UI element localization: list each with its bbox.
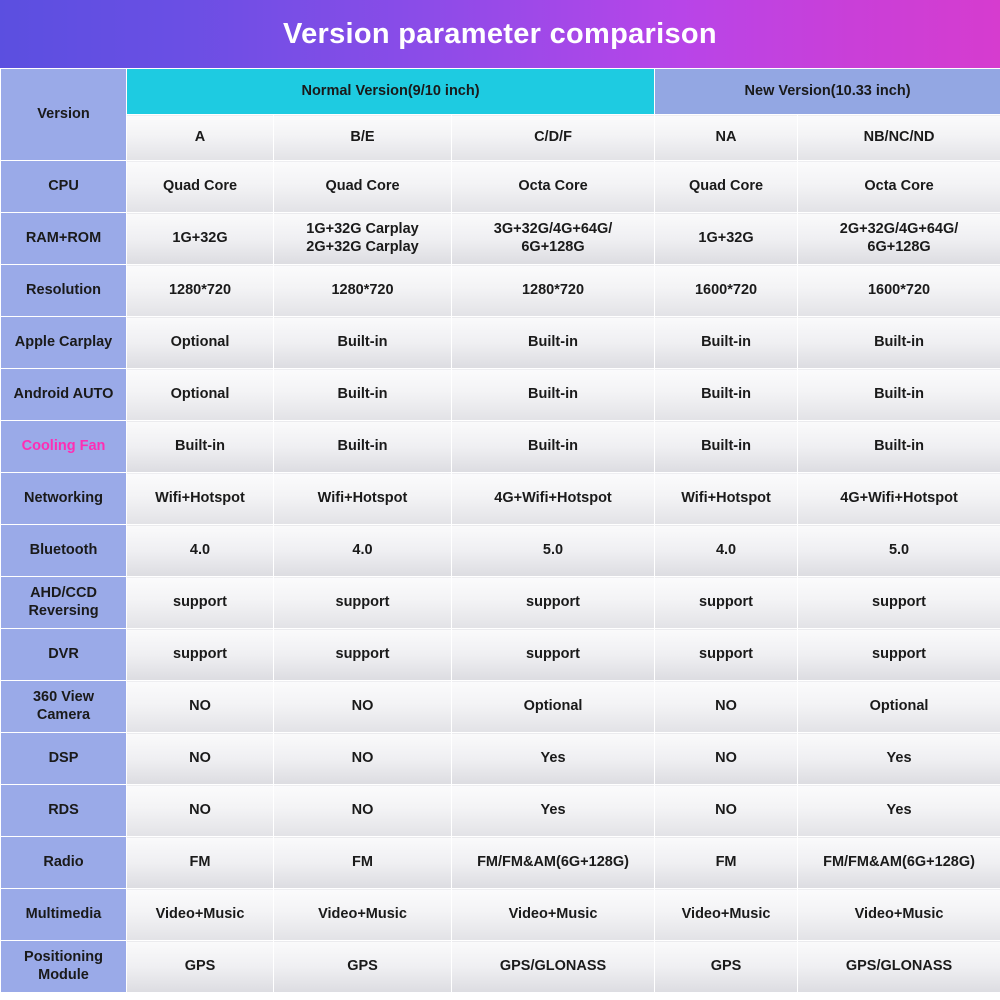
comparison-page: Version parameter comparison VersionNorm… bbox=[0, 0, 1000, 1000]
cell-value: support bbox=[127, 577, 274, 629]
cell-value: Built-in bbox=[452, 421, 655, 473]
cell-value: Built-in bbox=[452, 369, 655, 421]
cell-value: Optional bbox=[798, 681, 1000, 733]
cell-value: 4G+Wifi+Hotspot bbox=[798, 473, 1000, 525]
cell-value: Quad Core bbox=[274, 161, 452, 213]
cell-value: support bbox=[127, 629, 274, 681]
table-row: MultimediaVideo+MusicVideo+MusicVideo+Mu… bbox=[1, 889, 1000, 941]
cell-value: Octa Core bbox=[798, 161, 1000, 213]
cell-value: Yes bbox=[798, 733, 1000, 785]
cell-value: NO bbox=[655, 733, 798, 785]
cell-value: GPS bbox=[274, 941, 452, 993]
header-group-normal-version: Normal Version(9/10 inch) bbox=[127, 69, 655, 115]
title-banner: Version parameter comparison bbox=[0, 0, 1000, 68]
cell-value: 5.0 bbox=[452, 525, 655, 577]
cell-value: FM bbox=[127, 837, 274, 889]
row-label: DVR bbox=[1, 629, 127, 681]
cell-value: NO bbox=[127, 681, 274, 733]
cell-value: support bbox=[655, 577, 798, 629]
cell-value: Wifi+Hotspot bbox=[127, 473, 274, 525]
cell-value: 1280*720 bbox=[274, 265, 452, 317]
cell-value: 1280*720 bbox=[452, 265, 655, 317]
row-label: Resolution bbox=[1, 265, 127, 317]
cell-value: GPS bbox=[127, 941, 274, 993]
cell-value: 3G+32G/4G+64G/6G+128G bbox=[452, 213, 655, 265]
cell-value: GPS bbox=[655, 941, 798, 993]
row-label: Android AUTO bbox=[1, 369, 127, 421]
row-label: DSP bbox=[1, 733, 127, 785]
cell-value: NO bbox=[655, 681, 798, 733]
header-model-4: NA bbox=[655, 115, 798, 161]
cell-value: GPS/GLONASS bbox=[798, 941, 1000, 993]
table-row: Android AUTOOptionalBuilt-inBuilt-inBuil… bbox=[1, 369, 1000, 421]
cell-value: FM/FM&AM(6G+128G) bbox=[798, 837, 1000, 889]
row-label: Bluetooth bbox=[1, 525, 127, 577]
cell-value: 1G+32G bbox=[655, 213, 798, 265]
row-label: RAM+ROM bbox=[1, 213, 127, 265]
cell-value: support bbox=[274, 629, 452, 681]
cell-value: Wifi+Hotspot bbox=[274, 473, 452, 525]
cell-value: FM bbox=[274, 837, 452, 889]
cell-value: support bbox=[452, 629, 655, 681]
cell-value: 1G+32G bbox=[127, 213, 274, 265]
cell-value: NO bbox=[127, 733, 274, 785]
row-label: Apple Carplay bbox=[1, 317, 127, 369]
cell-value: support bbox=[798, 629, 1000, 681]
table-row: Cooling FanBuilt-inBuilt-inBuilt-inBuilt… bbox=[1, 421, 1000, 473]
cell-value: Video+Music bbox=[274, 889, 452, 941]
cell-value: Built-in bbox=[798, 421, 1000, 473]
cell-value: Wifi+Hotspot bbox=[655, 473, 798, 525]
cell-value: NO bbox=[655, 785, 798, 837]
header-group-new-version: New Version(10.33 inch) bbox=[655, 69, 1000, 115]
cell-value: Built-in bbox=[452, 317, 655, 369]
cell-value: 1280*720 bbox=[127, 265, 274, 317]
row-label: Networking bbox=[1, 473, 127, 525]
table-row: 360 ViewCameraNONOOptionalNOOptional bbox=[1, 681, 1000, 733]
cell-value: Built-in bbox=[127, 421, 274, 473]
cell-value: 4.0 bbox=[274, 525, 452, 577]
cell-value: Quad Core bbox=[655, 161, 798, 213]
cell-value: support bbox=[274, 577, 452, 629]
cell-value: support bbox=[798, 577, 1000, 629]
cell-value: Optional bbox=[127, 317, 274, 369]
table-row: PositioningModuleGPSGPSGPS/GLONASSGPSGPS… bbox=[1, 941, 1000, 993]
cell-value: FM/FM&AM(6G+128G) bbox=[452, 837, 655, 889]
cell-value: Optional bbox=[127, 369, 274, 421]
table-row: RAM+ROM1G+32G1G+32G Carplay2G+32G Carpla… bbox=[1, 213, 1000, 265]
cell-value: NO bbox=[274, 785, 452, 837]
cell-value: support bbox=[655, 629, 798, 681]
cell-value: 1600*720 bbox=[798, 265, 1000, 317]
cell-value: 1600*720 bbox=[655, 265, 798, 317]
cell-value: NO bbox=[274, 733, 452, 785]
cell-value: Built-in bbox=[655, 317, 798, 369]
cell-value: 4G+Wifi+Hotspot bbox=[452, 473, 655, 525]
cell-value: Built-in bbox=[798, 369, 1000, 421]
cell-value: Yes bbox=[798, 785, 1000, 837]
table-row: CPUQuad CoreQuad CoreOcta CoreQuad CoreO… bbox=[1, 161, 1000, 213]
header-model-5: NB/NC/ND bbox=[798, 115, 1000, 161]
row-label: Cooling Fan bbox=[1, 421, 127, 473]
table-row: NetworkingWifi+HotspotWifi+Hotspot4G+Wif… bbox=[1, 473, 1000, 525]
spec-comparison-table: VersionNormal Version(9/10 inch)New Vers… bbox=[0, 68, 1000, 993]
cell-value: 5.0 bbox=[798, 525, 1000, 577]
cell-value: Built-in bbox=[798, 317, 1000, 369]
table-row: RDSNONOYesNOYes bbox=[1, 785, 1000, 837]
cell-value: Video+Music bbox=[452, 889, 655, 941]
page-title: Version parameter comparison bbox=[283, 18, 717, 51]
row-label: Multimedia bbox=[1, 889, 127, 941]
cell-value: 4.0 bbox=[127, 525, 274, 577]
cell-value: Octa Core bbox=[452, 161, 655, 213]
cell-value: Yes bbox=[452, 785, 655, 837]
table-row: DSPNONOYesNOYes bbox=[1, 733, 1000, 785]
row-label: PositioningModule bbox=[1, 941, 127, 993]
table-header-row-groups: VersionNormal Version(9/10 inch)New Vers… bbox=[1, 69, 1000, 115]
cell-value: GPS/GLONASS bbox=[452, 941, 655, 993]
cell-value: 1G+32G Carplay2G+32G Carplay bbox=[274, 213, 452, 265]
row-label: RDS bbox=[1, 785, 127, 837]
header-model-1: A bbox=[127, 115, 274, 161]
header-model-3: C/D/F bbox=[452, 115, 655, 161]
cell-value: 4.0 bbox=[655, 525, 798, 577]
cell-value: Video+Music bbox=[655, 889, 798, 941]
table-row: DVRsupportsupportsupportsupportsupport bbox=[1, 629, 1000, 681]
cell-value: Video+Music bbox=[798, 889, 1000, 941]
table-row: AHD/CCDReversingsupportsupportsupportsup… bbox=[1, 577, 1000, 629]
cell-value: Yes bbox=[452, 733, 655, 785]
cell-value: Optional bbox=[452, 681, 655, 733]
cell-value: NO bbox=[274, 681, 452, 733]
row-label: 360 ViewCamera bbox=[1, 681, 127, 733]
cell-value: Quad Core bbox=[127, 161, 274, 213]
table-row: Apple CarplayOptionalBuilt-inBuilt-inBui… bbox=[1, 317, 1000, 369]
cell-value: 2G+32G/4G+64G/6G+128G bbox=[798, 213, 1000, 265]
cell-value: Built-in bbox=[274, 317, 452, 369]
cell-value: NO bbox=[127, 785, 274, 837]
row-label: CPU bbox=[1, 161, 127, 213]
header-model-2: B/E bbox=[274, 115, 452, 161]
row-label: AHD/CCDReversing bbox=[1, 577, 127, 629]
cell-value: Built-in bbox=[274, 369, 452, 421]
table-row: Bluetooth4.04.05.04.05.0 bbox=[1, 525, 1000, 577]
cell-value: Built-in bbox=[655, 421, 798, 473]
header-version-label: Version bbox=[1, 69, 127, 161]
cell-value: Built-in bbox=[655, 369, 798, 421]
cell-value: Video+Music bbox=[127, 889, 274, 941]
cell-value: support bbox=[452, 577, 655, 629]
table-header-row-models: AB/EC/D/FNANB/NC/ND bbox=[1, 115, 1000, 161]
cell-value: FM bbox=[655, 837, 798, 889]
row-label: Radio bbox=[1, 837, 127, 889]
table-row: Resolution1280*7201280*7201280*7201600*7… bbox=[1, 265, 1000, 317]
cell-value: Built-in bbox=[274, 421, 452, 473]
table-row: RadioFMFMFM/FM&AM(6G+128G)FMFM/FM&AM(6G+… bbox=[1, 837, 1000, 889]
